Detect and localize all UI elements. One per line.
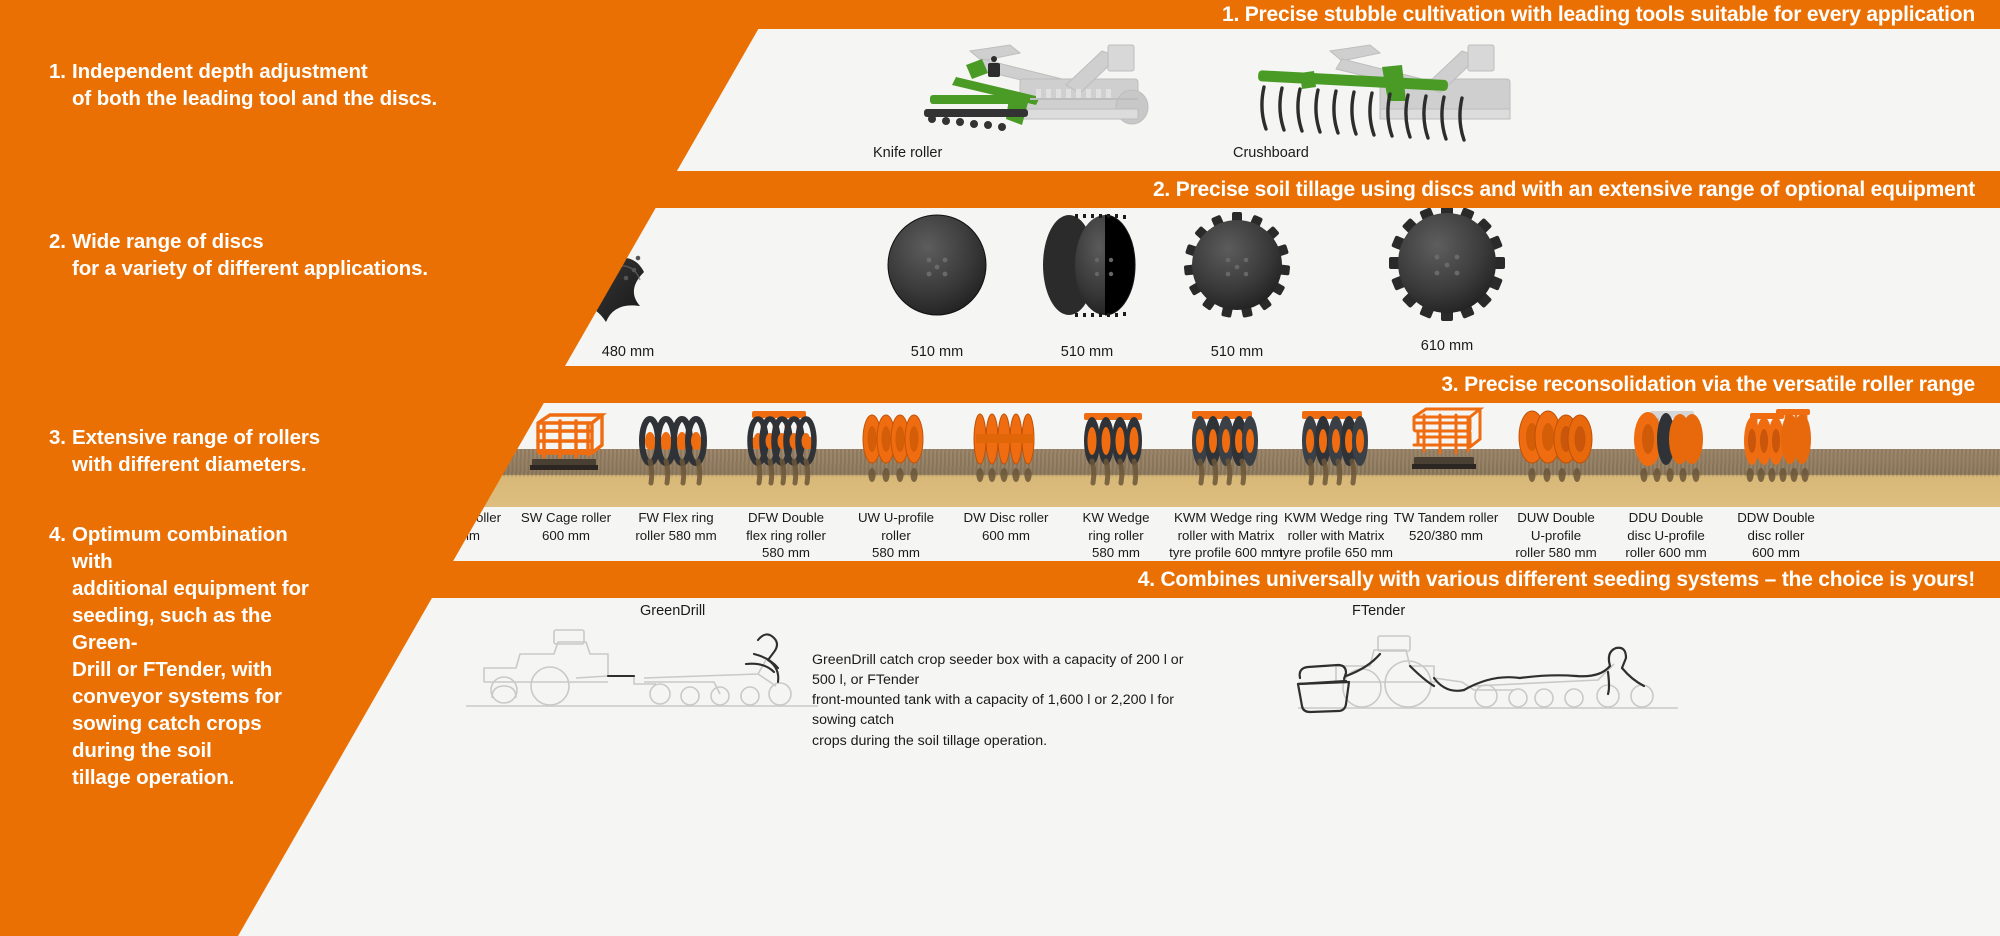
- roller-art-tandem: [1402, 403, 1490, 507]
- roller-art-flexring: [632, 403, 720, 507]
- system-label-ftender: FTender: [1352, 603, 1405, 619]
- disc-size-610: 610 mm: [1421, 338, 1473, 354]
- machine-caption-knife-roller: Knife roller: [873, 145, 942, 161]
- roller-caption-7: KWM Wedge ring roller with Matrix tyre p…: [1167, 509, 1285, 562]
- roller-art-disc-double: [1732, 403, 1820, 507]
- machine-crushboard: [1230, 39, 1560, 144]
- infographic-root: Knife roller: [0, 0, 2000, 936]
- section-2-title: 2. Precise soil tillage using discs and …: [1153, 178, 2000, 202]
- roller-art-wedgering-matrix: [1292, 403, 1380, 507]
- section-3-title: 3. Precise reconsolidation via the versa…: [1441, 373, 2000, 397]
- roller-caption-9: TW Tandem roller 520/380 mm: [1387, 509, 1505, 544]
- roller-item-7: KWM Wedge ring roller with Matrix tyre p…: [1182, 403, 1270, 507]
- roller-caption-1: SW Cage roller 600 mm: [507, 509, 625, 544]
- roller-art-cage: [522, 403, 610, 507]
- roller-caption-10: DUW Double U-profile roller 580 mm: [1497, 509, 1615, 562]
- roller-item-9: TW Tandem roller 520/380 mm: [1402, 403, 1490, 507]
- crushboard-illustration: [1230, 39, 1560, 144]
- section-4-panel: GreenDrill GreenDrill catch crop seeder …: [278, 598, 2000, 936]
- roller-caption-12: DDW Double disc roller 600 mm: [1717, 509, 1835, 562]
- section-4-description: GreenDrill catch crop seeder box with a …: [812, 650, 1202, 751]
- disc-size-510-fine: 510 mm: [1061, 344, 1113, 360]
- roller-item-11: DDU Double disc U-profile roller 600 mm: [1622, 403, 1710, 507]
- roller-item-5: DW Disc roller 600 mm: [962, 403, 1050, 507]
- roller-item-2: FW Flex ring roller 580 mm: [632, 403, 720, 507]
- roller-art-flexring-double: [742, 403, 830, 507]
- roller-item-12: DDW Double disc roller 600 mm: [1732, 403, 1820, 507]
- roller-item-8: KWM Wedge ring roller with Matrix tyre p…: [1292, 403, 1380, 507]
- roller-art-wedgering: [1072, 403, 1160, 507]
- system-label-greendrill: GreenDrill: [640, 603, 705, 619]
- roller-caption-3: DFW Double flex ring roller 580 mm: [727, 509, 845, 562]
- roller-caption-4: UW U-profile roller 580 mm: [837, 509, 955, 562]
- roller-caption-5: DW Disc roller 600 mm: [947, 509, 1065, 544]
- roller-item-3: DFW Double flex ring roller 580 mm: [742, 403, 830, 507]
- knife-roller-illustration: [870, 39, 1200, 144]
- roller-art-wedgering-matrix: [1182, 403, 1270, 507]
- roller-item-4: UW U-profile roller 580 mm: [852, 403, 940, 507]
- section-1-header-bar: 1. Precise stubble cultivation with lead…: [600, 0, 2000, 29]
- roller-item-10: DUW Double U-profile roller 580 mm: [1512, 403, 1600, 507]
- roller-art-disc: [962, 403, 1050, 507]
- section-1-title: 1. Precise stubble cultivation with lead…: [1222, 3, 2000, 27]
- section-3-panel: SW Cage roller 520 mm SW Cage roller 600…: [400, 403, 2000, 561]
- machine-knife-roller: [870, 39, 1200, 144]
- section-2-header-bar: 2. Precise soil tillage using discs and …: [512, 171, 2000, 208]
- roller-caption-6: KW Wedge ring roller 580 mm: [1057, 509, 1175, 562]
- roller-art-uprofile: [852, 403, 940, 507]
- section-4-title: 4. Combines universally with various dif…: [1138, 568, 2000, 592]
- disc-size-510-coarse: 510 mm: [1211, 344, 1263, 360]
- disc-art-coarse-serrated-large: [1357, 206, 1537, 314]
- roller-caption-2: FW Flex ring roller 580 mm: [617, 509, 735, 544]
- machine-caption-crushboard: Crushboard: [1233, 145, 1309, 161]
- roller-art-disc-uprofile: [1622, 403, 1710, 507]
- roller-art-uprofile-double: [1512, 403, 1600, 507]
- section-1-panel: Knife roller: [600, 29, 2000, 171]
- roller-item-1: SW Cage roller 600 mm: [522, 403, 610, 507]
- roller-caption-8: KWM Wedge ring roller with Matrix tyre p…: [1277, 509, 1395, 562]
- roller-track: SW Cage roller 520 mm SW Cage roller 600…: [400, 403, 2000, 561]
- disc-art-coarse-serrated: [1147, 212, 1327, 320]
- disc-size-510-smooth: 510 mm: [911, 344, 963, 360]
- section-2-panel: 480 mm X-Cutter-Disc: [512, 208, 2000, 366]
- ftender-illustration: [1278, 620, 1718, 715]
- section-4-header-bar: 4. Combines universally with various dif…: [278, 561, 2000, 598]
- disc-size-480: 480 mm: [602, 344, 654, 360]
- section-3-header-bar: 3. Precise reconsolidation via the versa…: [400, 366, 2000, 403]
- roller-item-6: KW Wedge ring roller 580 mm: [1072, 403, 1160, 507]
- roller-caption-11: DDU Double disc U-profile roller 600 mm: [1607, 509, 1725, 562]
